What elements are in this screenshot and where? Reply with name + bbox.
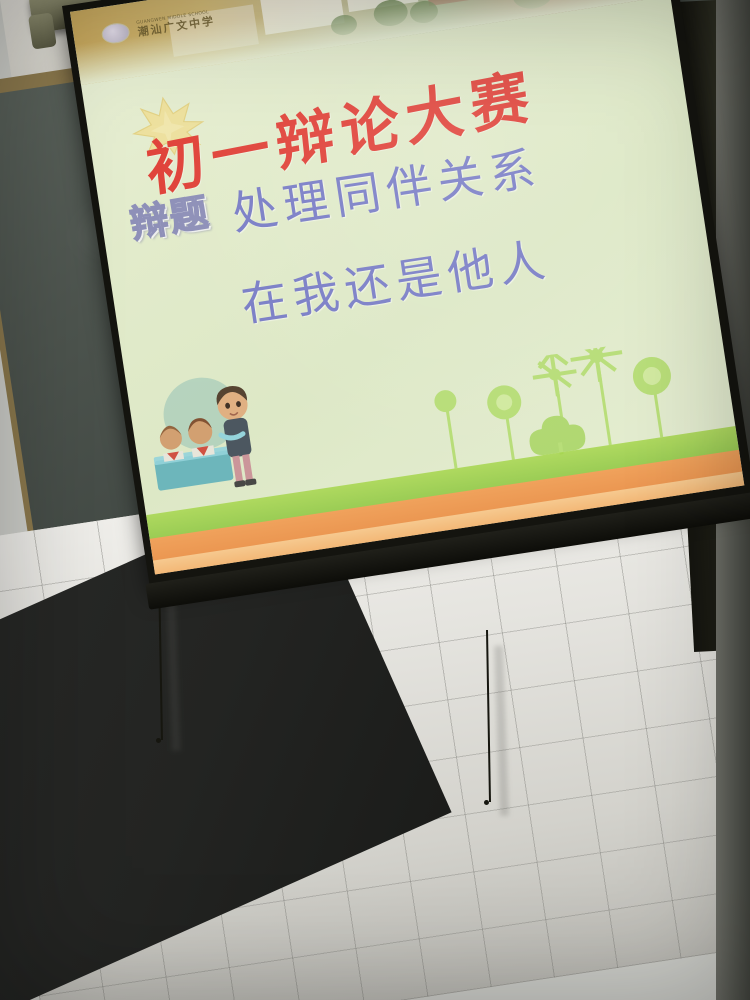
cord-knob-left xyxy=(156,738,161,743)
classroom-scene: GUANGWEN MIDDLE SCHOOL 潮汕广文中学 初一辩论大赛 辩题 … xyxy=(0,0,750,1000)
cord-knob-right xyxy=(484,800,489,805)
projection-screen: GUANGWEN MIDDLE SCHOOL 潮汕广文中学 初一辩论大赛 辩题 … xyxy=(62,0,750,589)
topic-line-2: 在我还是他人 xyxy=(236,223,554,335)
roller-end-cap xyxy=(28,12,57,49)
school-emblem-icon xyxy=(100,21,131,45)
topic-label: 辩题 xyxy=(125,181,213,249)
presentation-slide: GUANGWEN MIDDLE SCHOOL 潮汕广文中学 初一辩论大赛 辩题 … xyxy=(70,0,744,574)
cartoon-students-illustration xyxy=(138,353,276,509)
